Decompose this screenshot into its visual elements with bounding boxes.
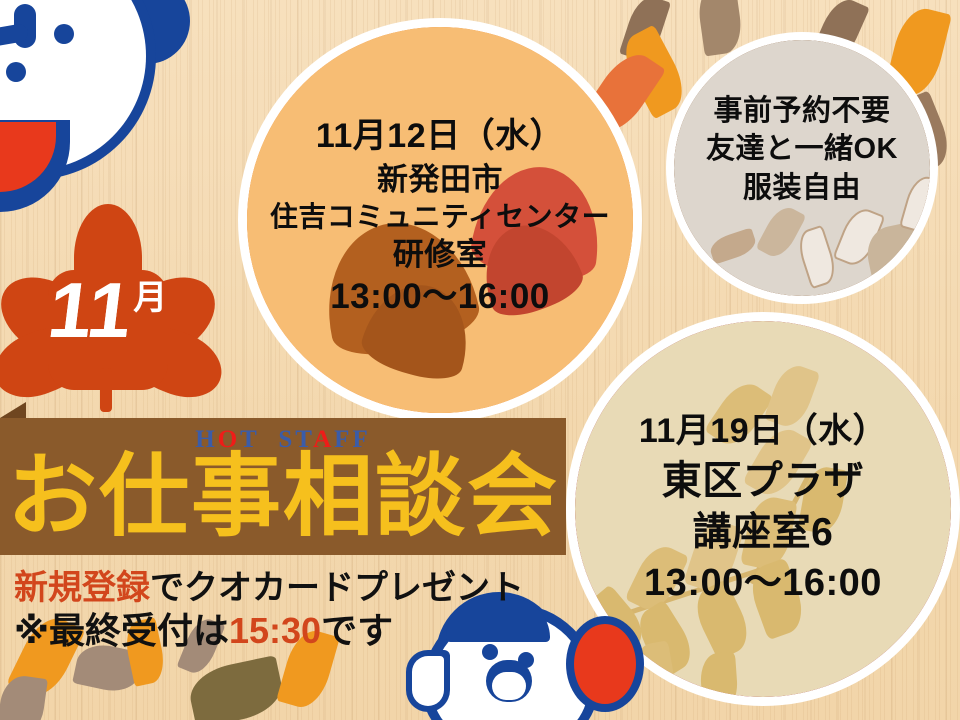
event-circle-higashiku-text: 11月19日（水） 東区プラザ 講座室6 13:00〜16:00 (566, 312, 960, 706)
mascot-mouth-dot (6, 62, 26, 82)
event-line: 11月19日（水） (639, 412, 887, 451)
month-unit: 月 (133, 281, 167, 315)
mascot-top-left (0, 0, 208, 238)
month-number: 11 (45, 279, 135, 341)
banner-fold (0, 402, 26, 418)
info-line: 友達と一緒OK (706, 133, 898, 167)
month-badge-label: 11 月 (8, 210, 208, 410)
info-line: 事前予約不要 (713, 95, 890, 129)
note-segment: 15:30 (229, 610, 321, 651)
info-line: 服装自由 (743, 172, 861, 206)
mascot-eye-left (482, 644, 498, 660)
title-banner: HOT STAFF お仕事相談会 (0, 418, 566, 555)
event-line: 研修室 (393, 237, 488, 273)
page-title: お仕事相談会 (0, 452, 566, 542)
event-line: 13:00〜16:00 (330, 277, 550, 318)
mascot-hand-inner (412, 656, 444, 706)
poster-root: 11月12日（水） 新発田市 住吉コミュニティセンター 研修室 13:00〜16… (0, 0, 960, 720)
mascot-eye-right (54, 24, 74, 44)
note-segment: です (321, 610, 393, 651)
event-line: 講座室6 (693, 510, 834, 555)
note-segment: ※最終受付は (14, 610, 229, 651)
event-circle-higashiku: 11月19日（水） 東区プラザ 講座室6 13:00〜16:00 (566, 312, 960, 706)
info-circle: 事前予約不要 友達と一緒OK 服装自由 (666, 32, 938, 304)
event-line: 新発田市 (377, 162, 503, 198)
event-line: 住吉コミュニティセンター (270, 201, 610, 233)
event-line: 東区プラザ (662, 458, 865, 504)
info-circle-text: 事前予約不要 友達と一緒OK 服装自由 (666, 32, 938, 304)
mascot-snout-inner (492, 672, 526, 700)
event-line: 13:00〜16:00 (644, 561, 882, 605)
last-reception-note: ※最終受付は15:30です (14, 602, 393, 654)
event-line: 11月12日（水） (316, 117, 564, 156)
